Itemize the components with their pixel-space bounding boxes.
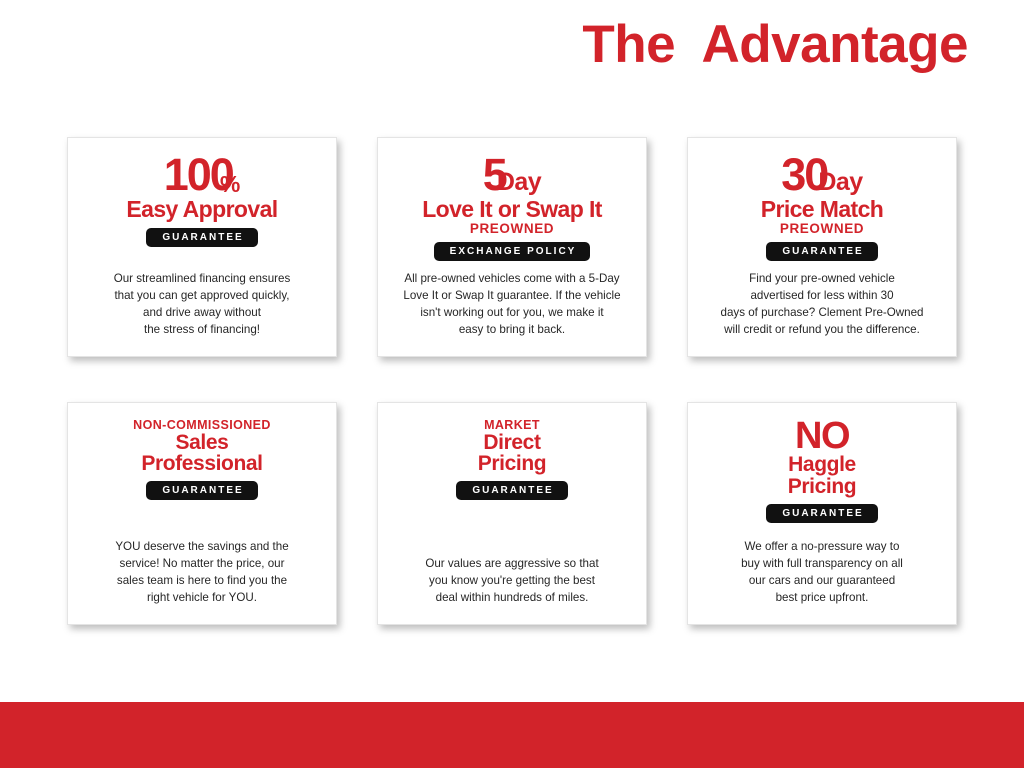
card-body-text: All pre-owned vehicles come with a 5-Day… xyxy=(403,270,620,338)
percent-symbol: % xyxy=(220,174,240,196)
headline-kicker: PREOWNED xyxy=(780,222,864,236)
guarantee-badge: GUARANTEE xyxy=(766,242,877,261)
guarantee-badge: GUARANTEE xyxy=(456,481,567,500)
card-headline: 5 Day Love It or Swap It PREOWNED EXCHAN… xyxy=(392,154,632,261)
headline-unit: Day xyxy=(497,171,541,195)
card-body-text: Our streamlined financing ensures that y… xyxy=(114,270,291,338)
headline-subtitle: Easy Approval xyxy=(126,198,277,221)
headline-kicker: PREOWNED xyxy=(470,222,554,236)
card-easy-approval[interactable]: 100 % Easy Approval GUARANTEE Our stream… xyxy=(67,137,337,357)
card-price-match[interactable]: 30 Day Price Match PREOWNED GUARANTEE Fi… xyxy=(687,137,957,357)
card-body-text: Our values are aggressive so that you kn… xyxy=(425,555,598,606)
card-love-it-or-swap-it[interactable]: 5 Day Love It or Swap It PREOWNED EXCHAN… xyxy=(377,137,647,357)
card-sales-professional[interactable]: NON-COMMISSIONED Sales Professional GUAR… xyxy=(67,402,337,625)
guarantee-badge: GUARANTEE xyxy=(146,481,257,500)
card-headline: MARKET Direct Pricing GUARANTEE xyxy=(392,419,632,500)
card-headline: NO Haggle Pricing GUARANTEE xyxy=(702,419,942,523)
card-body-text: We offer a no-pressure way to buy with f… xyxy=(741,538,903,606)
headline-subtitle: Sales Professional xyxy=(141,432,262,475)
guarantee-badge: GUARANTEE xyxy=(146,228,257,247)
headline-subtitle: Haggle Pricing xyxy=(788,454,856,497)
headline-word: NO xyxy=(795,419,849,454)
card-headline: 100 % Easy Approval GUARANTEE xyxy=(82,154,322,247)
card-row-bottom: NON-COMMISSIONED Sales Professional GUAR… xyxy=(0,402,1024,625)
headline-lockup: 100 % xyxy=(164,154,241,197)
guarantee-badge: GUARANTEE xyxy=(766,504,877,523)
headline-lockup: 30 Day xyxy=(781,154,862,197)
card-row-top: 100 % Easy Approval GUARANTEE Our stream… xyxy=(0,137,1024,357)
headline-subtitle: Price Match xyxy=(761,198,884,221)
card-headline: NON-COMMISSIONED Sales Professional GUAR… xyxy=(82,419,322,500)
footer-accent-bar xyxy=(0,702,1024,768)
card-headline: 30 Day Price Match PREOWNED GUARANTEE xyxy=(702,154,942,261)
advantage-card-grid: 100 % Easy Approval GUARANTEE Our stream… xyxy=(0,137,1024,625)
headline-kicker: MARKET xyxy=(484,419,540,432)
card-no-haggle-pricing[interactable]: NO Haggle Pricing GUARANTEE We offer a n… xyxy=(687,402,957,625)
headline-unit: Day xyxy=(818,171,862,195)
exchange-policy-badge: EXCHANGE POLICY xyxy=(434,242,591,261)
page-title: The Advantage xyxy=(582,16,968,74)
headline-subtitle: Love It or Swap It xyxy=(422,198,602,221)
headline-subtitle: Direct Pricing xyxy=(478,432,546,475)
card-body-text: YOU deserve the savings and the service!… xyxy=(115,538,288,606)
card-body-text: Find your pre-owned vehicle advertised f… xyxy=(721,270,924,338)
headline-kicker: NON-COMMISSIONED xyxy=(133,419,271,432)
headline-lockup: 5 Day xyxy=(483,154,541,197)
card-direct-pricing[interactable]: MARKET Direct Pricing GUARANTEE Our valu… xyxy=(377,402,647,625)
